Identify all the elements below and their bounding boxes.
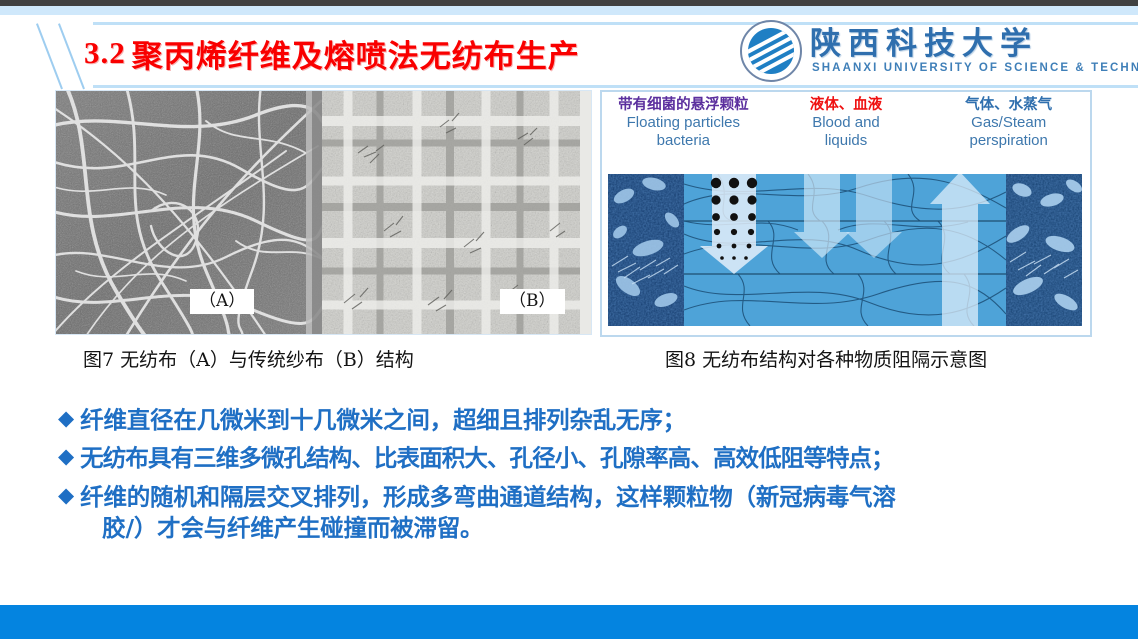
barrier-label-liquids: 液体、血液 Blood and liquids [765, 96, 928, 168]
barrier-label-gas: 气体、水蒸气 Gas/Steam perspiration [927, 96, 1090, 168]
bullet-text-1: 纤维直径在几微米到十几微米之间，超细且排列杂乱无序； [80, 405, 686, 436]
panel-b-label: （B） [500, 289, 565, 314]
header-rule-bottom [93, 85, 1138, 88]
figure-8-caption: 图8 无纺布结构对各种物质阻隔示意图 [665, 345, 987, 372]
page-title-text: 聚丙烯纤维及熔喷法无纺布生产 [132, 31, 580, 76]
bullet-list: ◆ 纤维直径在几微米到十几微米之间，超细且排列杂乱无序； ◆ 无纺布具有三维多微… [58, 405, 1118, 551]
logo-name-cn: 陕西科技大学 [810, 18, 1038, 63]
footer-bar [0, 605, 1138, 639]
figure-8-label-row: 带有细菌的悬浮颗粒 Floating particles bacteria 液体… [602, 96, 1090, 168]
bullet-item-3: ◆ 纤维的随机和隔层交叉排列，形成多弯曲通道结构，这样颗粒物（新冠病毒气溶 胶/… [58, 482, 1118, 545]
header-diagonal-stripe-2 [58, 23, 85, 89]
sem-panel-a [56, 91, 322, 334]
slide-canvas: 3.2 聚丙烯纤维及熔喷法无纺布生产 陕西科技大学 SHAANXI UNIVER… [0, 0, 1138, 639]
university-logo: 陕西科技大学 SHAANXI UNIVERSITY OF SCIENCE & T… [740, 18, 1132, 82]
page-title: 3.2 聚丙烯纤维及熔喷法无纺布生产 [84, 24, 644, 82]
barrier-cross-section-diagram [608, 174, 1082, 326]
figure-7-caption: 图7 无纺布（A）与传统纱布（B）结构 [83, 345, 414, 372]
barrier-label-particles: 带有细菌的悬浮颗粒 Floating particles bacteria [602, 96, 765, 168]
panel-a-label: （A） [190, 289, 254, 314]
bullet-item-2: ◆ 无纺布具有三维多微孔结构、比表面积大、孔径小、孔隙率高、高效低阻等特点； [58, 443, 1118, 474]
page-title-number: 3.2 [84, 35, 126, 71]
bullet-item-1: ◆ 纤维直径在几微米到十几微米之间，超细且排列杂乱无序； [58, 405, 1118, 436]
diamond-bullet-icon: ◆ [58, 405, 74, 431]
header-diagonal-stripe-1 [36, 23, 63, 89]
bullet-text-3-line1: 纤维的随机和隔层交叉排列，形成多弯曲通道结构，这样颗粒物（新冠病毒气溶 [80, 483, 896, 511]
logo-emblem-icon [740, 20, 802, 82]
bullet-text-2: 无纺布具有三维多微孔结构、比表面积大、孔径小、孔隙率高、高效低阻等特点； [80, 443, 894, 474]
diamond-bullet-icon: ◆ [58, 443, 74, 469]
figure-8-image: 带有细菌的悬浮颗粒 Floating particles bacteria 液体… [600, 90, 1092, 337]
diamond-bullet-icon: ◆ [58, 482, 74, 508]
bullet-text-3-line2: 胶/）才会与纤维产生碰撞而被滞留。 [102, 513, 483, 544]
top-blue-band [0, 6, 1138, 15]
logo-name-en: SHAANXI UNIVERSITY OF SCIENCE & TECHNOLO… [812, 62, 1138, 74]
